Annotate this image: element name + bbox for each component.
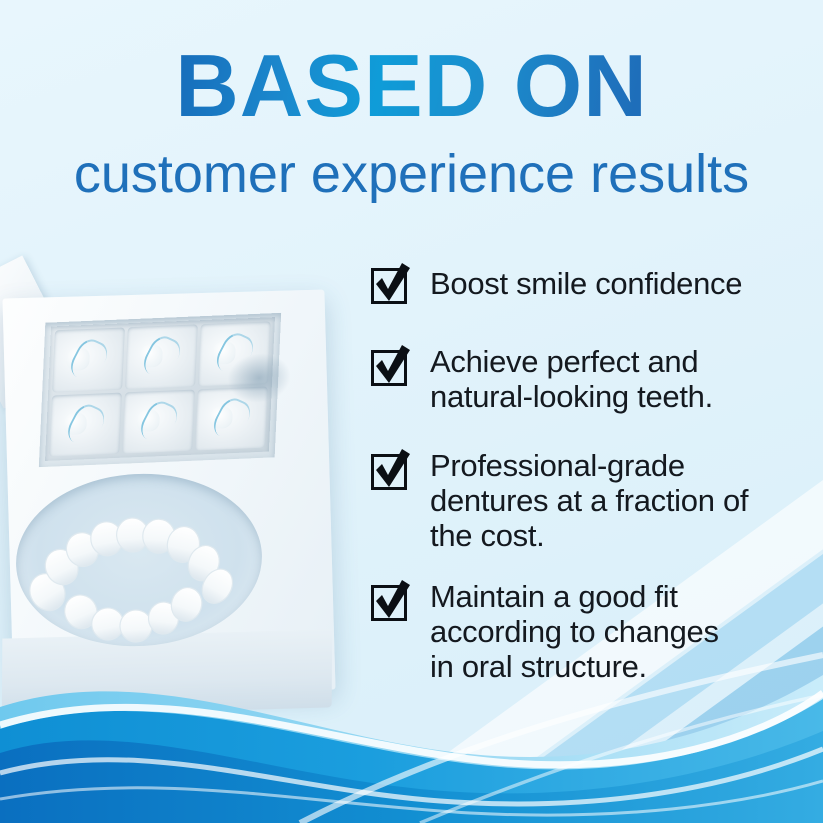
- list-item: Boost smile confidence: [368, 262, 820, 306]
- product-image: YAGOO™: [0, 268, 360, 738]
- page-title: BASED ON: [0, 42, 823, 130]
- list-item-label: Achieve perfect and natural-looking teet…: [430, 344, 713, 414]
- benefits-list: Boost smile confidence Achieve perfect a…: [368, 262, 820, 710]
- checkmark-icon: [368, 262, 414, 306]
- denture-arch: [17, 482, 251, 655]
- list-item: Maintain a good fit according to changes…: [368, 579, 820, 684]
- list-item: Achieve perfect and natural-looking teet…: [368, 344, 820, 414]
- page-subtitle: customer experience results: [0, 146, 823, 203]
- blister-cell: [49, 392, 122, 457]
- list-item-label: Maintain a good fit according to changes…: [430, 579, 719, 684]
- list-item-label: Professional-grade dentures at a fractio…: [430, 448, 748, 553]
- checkmark-icon: [368, 448, 414, 492]
- checkmark-icon: [368, 579, 414, 623]
- list-item-label: Boost smile confidence: [430, 262, 742, 301]
- blister-cell: [122, 389, 195, 454]
- promo-poster: BASED ON customer experience results YAG…: [0, 0, 823, 823]
- box-inner-shadow: [225, 350, 293, 406]
- checkmark-icon: [368, 344, 414, 388]
- blister-cell: [125, 324, 198, 389]
- blister-cell: [52, 327, 125, 392]
- list-item: Professional-grade dentures at a fractio…: [368, 448, 820, 553]
